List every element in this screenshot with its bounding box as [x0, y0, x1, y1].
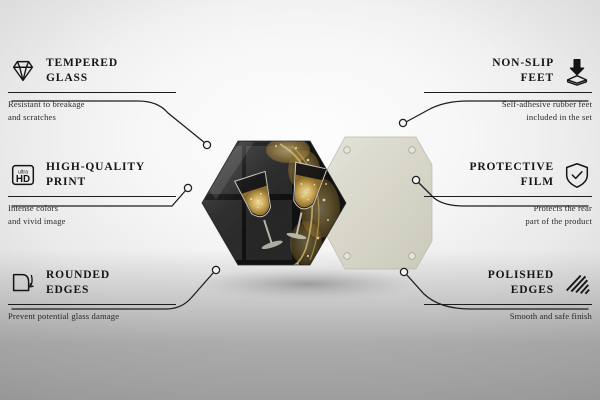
feature-polished-edges: POLISHED EDGES Smooth and safe finish: [424, 268, 592, 323]
feature-protective-film: PROTECTIVE FILM Protects the rear part o…: [424, 160, 592, 227]
product-shadow: [196, 268, 420, 300]
feature-header: PROTECTIVE FILM: [424, 160, 592, 190]
feature-divider: [8, 304, 176, 305]
rubber-foot-bottom-left: [344, 253, 351, 260]
product-image: [180, 88, 440, 318]
feature-header: ultra HD HIGH-QUALITY PRINT: [8, 160, 176, 190]
feature-title: PROTECTIVE FILM: [469, 160, 554, 190]
feature-non-slip-feet: NON-SLIP FEET Self-adhesive rubber feet …: [424, 56, 592, 123]
diamond-icon: [8, 56, 38, 86]
feature-hq-print: ultra HD HIGH-QUALITY PRINT Intense colo…: [8, 160, 176, 227]
feature-title: POLISHED EDGES: [488, 268, 554, 298]
feature-divider: [8, 92, 176, 93]
feature-description: Smooth and safe finish: [424, 310, 592, 322]
feature-header: TEMPERED GLASS: [8, 56, 176, 86]
feature-title: NON-SLIP FEET: [492, 56, 554, 86]
ultra-hd-main-label: HD: [16, 174, 30, 185]
feature-header: POLISHED EDGES: [424, 268, 592, 298]
feature-divider: [424, 92, 592, 93]
press-down-arrow-icon: [562, 56, 592, 86]
rubber-foot-bottom-right: [409, 253, 416, 260]
front-panel-black: [196, 137, 346, 266]
feature-divider: [424, 304, 592, 305]
feature-title: TEMPERED GLASS: [46, 56, 118, 86]
feature-divider: [424, 196, 592, 197]
feature-description: Intense colors and vivid image: [8, 202, 176, 226]
feature-title: HIGH-QUALITY PRINT: [46, 160, 145, 190]
rubber-foot-top-right: [409, 147, 416, 154]
feature-header: NON-SLIP FEET: [424, 56, 592, 86]
feature-description: Prevent potential glass damage: [8, 310, 176, 322]
feature-description: Protects the rear part of the product: [424, 202, 592, 226]
feature-description: Self-adhesive rubber feet included in th…: [424, 98, 592, 122]
rounded-corner-icon: [8, 268, 38, 298]
feature-rounded-edges: ROUNDED EDGES Prevent potential glass da…: [8, 268, 176, 323]
diagonal-hatch-icon: [562, 268, 592, 298]
ultra-hd-icon: ultra HD: [8, 160, 38, 190]
feature-description: Resistant to breakage and scratches: [8, 98, 176, 122]
shield-check-icon: [562, 160, 592, 190]
feature-header: ROUNDED EDGES: [8, 268, 176, 298]
infographic-canvas: TEMPERED GLASS Resistant to breakage and…: [0, 0, 600, 400]
feature-title: ROUNDED EDGES: [46, 268, 110, 298]
feature-divider: [8, 196, 176, 197]
feature-tempered-glass: TEMPERED GLASS Resistant to breakage and…: [8, 56, 176, 123]
rubber-foot-top-left: [344, 147, 351, 154]
